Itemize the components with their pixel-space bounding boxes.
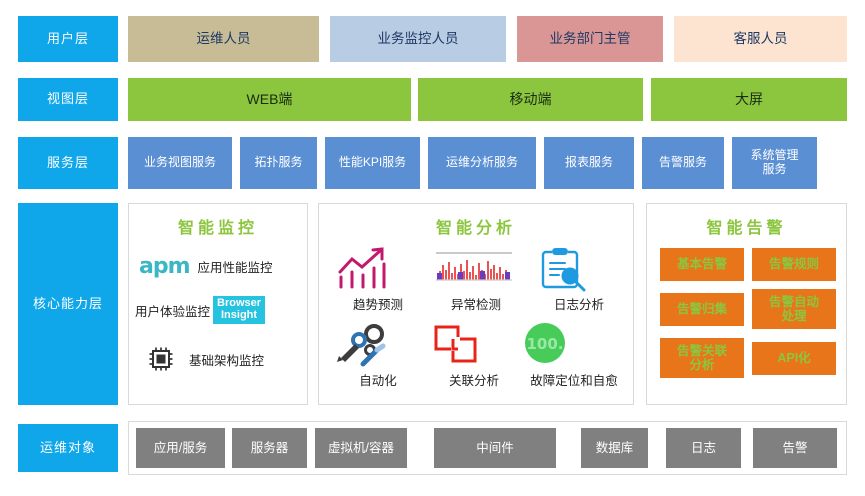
feature-log-analysis[interactable]: 日志分析	[534, 244, 624, 313]
service-item-alarm[interactable]: 告警服务	[642, 137, 724, 189]
cpu-chip-icon	[147, 345, 177, 373]
anomaly-spike-icon	[431, 244, 517, 292]
apm-logo-icon: apm	[139, 254, 190, 279]
panel-title-alarm: 智能告警	[647, 214, 846, 238]
feature-apm-monitoring[interactable]: apm 应用性能监控	[139, 249, 304, 283]
view-item-web[interactable]: WEB端	[128, 78, 411, 121]
panel-intelligent-analysis: 智能分析 趋势预测	[318, 203, 634, 405]
badge-line-2: Insight	[221, 309, 257, 321]
architecture-diagram: 用户层 运维人员 业务监控人员 业务部门主管 客服人员 视图层 WEB端 移动端…	[0, 0, 865, 496]
feature-label-infrastructure: 基础架构监控	[189, 350, 264, 369]
log-magnifier-icon	[534, 244, 592, 292]
alarm-box-rules[interactable]: 告警规则	[752, 248, 836, 281]
object-item-database[interactable]: 数据库	[581, 428, 648, 468]
layer-label-view: 视图层	[18, 78, 118, 121]
service-item-business-view[interactable]: 业务视图服务	[128, 137, 232, 189]
trend-chart-icon	[333, 244, 395, 292]
user-item-ops[interactable]: 运维人员	[128, 16, 319, 62]
gears-tools-icon	[333, 322, 397, 368]
feature-label-user-experience: 用户体验监控	[135, 301, 210, 320]
alarm-box-aggregation[interactable]: 告警归集	[660, 293, 744, 326]
caption-anomaly-detection: 异常检测	[431, 294, 521, 313]
object-item-alarm[interactable]: 告警	[753, 428, 837, 468]
caption-log-analysis: 日志分析	[534, 294, 624, 313]
alarm-box-basic[interactable]: 基本告警	[660, 248, 744, 281]
green-circle-100-icon: 100.	[519, 322, 571, 368]
layer-label-user: 用户层	[18, 16, 118, 62]
view-item-mobile[interactable]: 移动端	[418, 78, 643, 121]
service-item-topology[interactable]: 拓扑服务	[240, 137, 317, 189]
feature-anomaly-detection[interactable]: 异常检测	[431, 244, 521, 313]
browser-insight-badge: Browser Insight	[213, 296, 265, 323]
caption-trend-prediction: 趋势预测	[333, 294, 423, 313]
badge-line-1: Browser	[217, 297, 261, 309]
service-item-kpi[interactable]: 性能KPI服务	[325, 137, 420, 189]
panel-title-analysis: 智能分析	[319, 214, 633, 238]
feature-automation[interactable]: 自动化	[333, 322, 423, 389]
feature-infrastructure-monitoring[interactable]: 基础架构监控	[147, 342, 307, 376]
alarm-box-correlation[interactable]: 告警关联 分析	[660, 338, 744, 378]
user-item-customer-service[interactable]: 客服人员	[674, 16, 847, 62]
layer-label-service: 服务层	[18, 137, 118, 189]
service-item-system-admin[interactable]: 系统管理 服务	[732, 137, 817, 189]
object-item-server[interactable]: 服务器	[232, 428, 307, 468]
feature-trend-prediction[interactable]: 趋势预测	[333, 244, 423, 313]
alarm-box-auto-handling[interactable]: 告警自动 处理	[752, 289, 836, 329]
caption-automation: 自动化	[333, 370, 423, 389]
alarm-box-api[interactable]: API化	[752, 342, 836, 375]
linked-squares-icon	[429, 322, 485, 368]
view-item-bigscreen[interactable]: 大屏	[651, 78, 847, 121]
caption-fault-location-self-healing: 故障定位和自愈	[519, 370, 629, 389]
layer-label-object: 运维对象	[18, 424, 118, 472]
layer-label-core: 核心能力层	[18, 203, 118, 405]
svg-text:100.: 100.	[526, 335, 563, 353]
service-item-ops-analysis[interactable]: 运维分析服务	[428, 137, 536, 189]
caption-correlation-analysis: 关联分析	[429, 370, 519, 389]
object-item-vm-container[interactable]: 虚拟机/容器	[315, 428, 407, 468]
user-item-business-monitor[interactable]: 业务监控人员	[330, 16, 506, 62]
feature-user-experience-monitoring[interactable]: 用户体验监控 Browser Insight	[135, 292, 307, 328]
panel-intelligent-monitoring: 智能监控 apm 应用性能监控 用户体验监控 Browser Insight	[128, 203, 308, 405]
object-item-middleware[interactable]: 中间件	[434, 428, 556, 468]
panel-title-monitoring: 智能监控	[129, 214, 307, 238]
object-item-application-service[interactable]: 应用/服务	[136, 428, 225, 468]
feature-correlation-analysis[interactable]: 关联分析	[429, 322, 519, 389]
service-item-report[interactable]: 报表服务	[544, 137, 634, 189]
object-item-log[interactable]: 日志	[666, 428, 741, 468]
panel-intelligent-alarm: 智能告警 基本告警 告警规则 告警归集 告警自动 处理 告警关联 分析 API化	[646, 203, 847, 405]
feature-fault-location-self-healing[interactable]: 100. 故障定位和自愈	[519, 322, 629, 389]
feature-label-apm: 应用性能监控	[198, 257, 273, 276]
user-item-business-manager[interactable]: 业务部门主管	[517, 16, 663, 62]
